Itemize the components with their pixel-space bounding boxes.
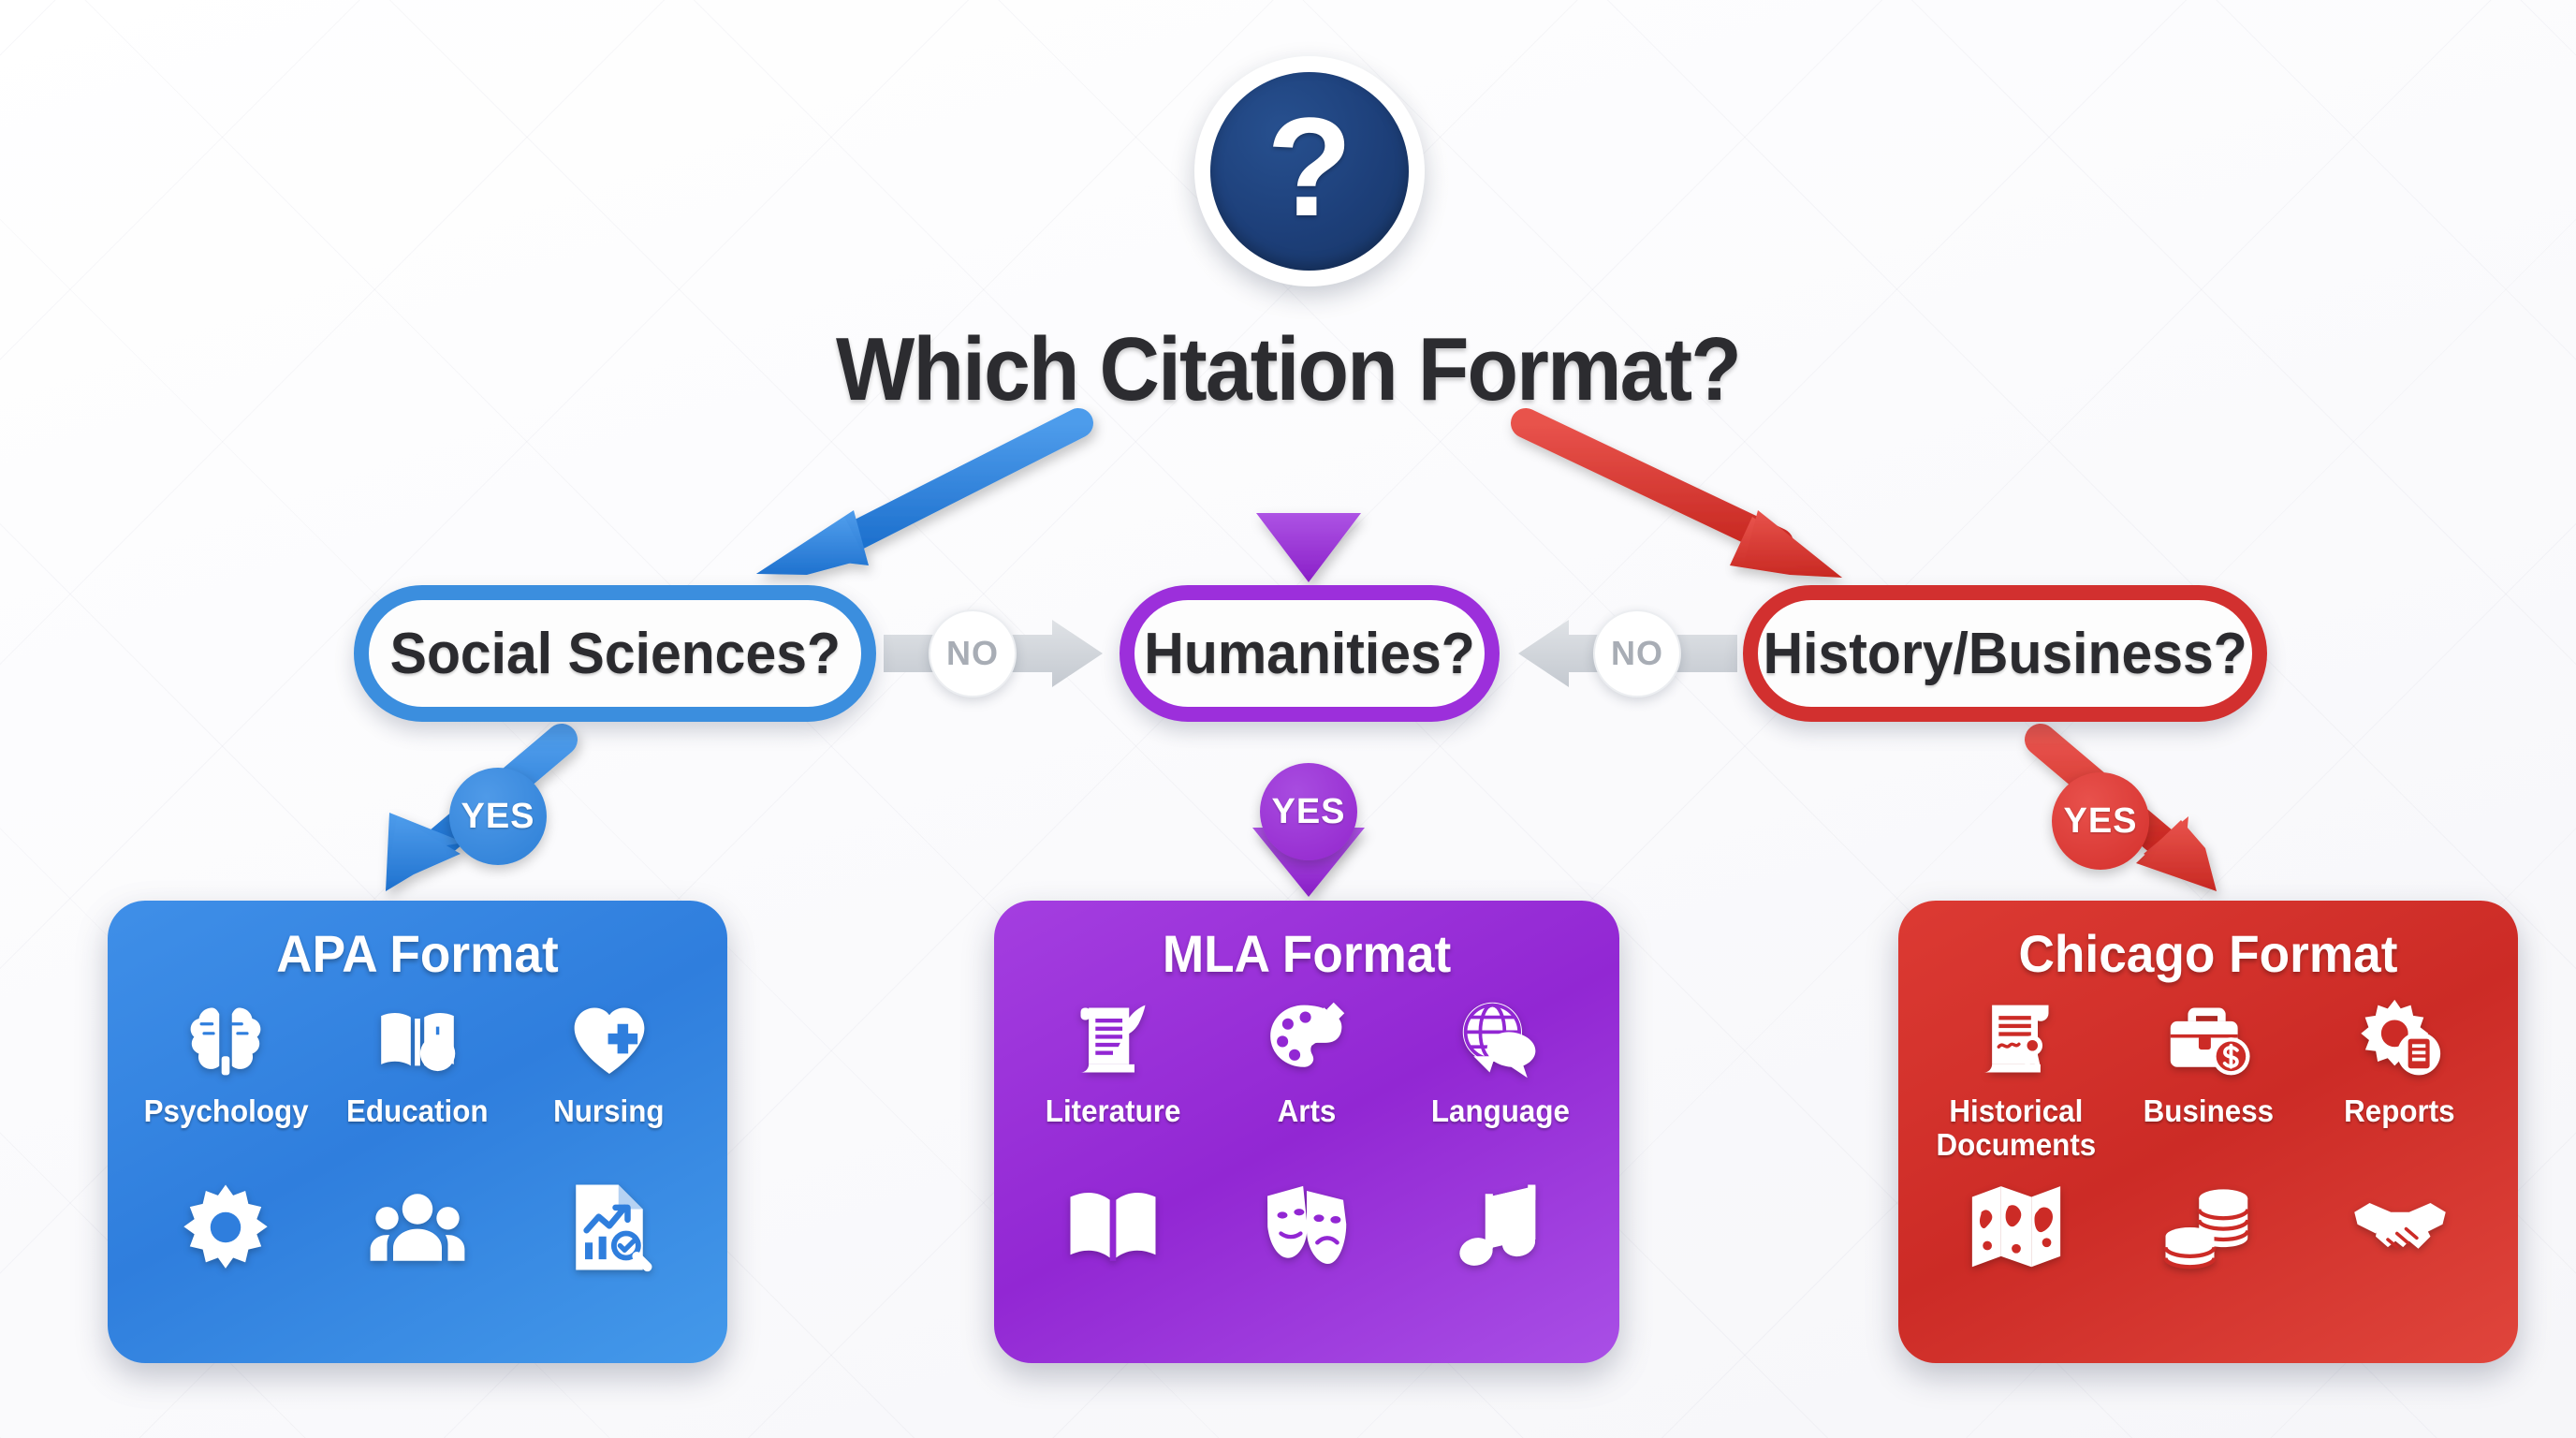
page-title: Which Citation Format? xyxy=(90,318,2485,421)
mla-item-literature: Literature xyxy=(1019,997,1207,1128)
card-title-mla: MLA Format xyxy=(1010,923,1604,984)
connector-badge-yes-apa: YES xyxy=(449,768,547,865)
coin-stacks-icon xyxy=(2159,1179,2257,1276)
apa-icon-row-secondary xyxy=(108,1179,727,1328)
arrow-root-to-social xyxy=(756,419,1081,588)
decision-node-social-sciences[interactable]: Social Sciences? xyxy=(354,585,876,722)
chicago-item-business: Business xyxy=(2115,997,2302,1128)
briefcase-dollar-icon xyxy=(2165,997,2251,1083)
apa-item-chart-document xyxy=(516,1179,703,1276)
card-title-chicago: Chicago Format xyxy=(1914,923,2503,984)
music-note-icon xyxy=(1452,1179,1549,1276)
mla-item-music-note xyxy=(1407,1179,1594,1276)
apa-item-people-group xyxy=(324,1179,511,1276)
mla-item-language: Language xyxy=(1407,997,1594,1128)
apa-item-gear xyxy=(132,1179,319,1276)
decision-label-history-business: History/Business? xyxy=(1763,621,2247,687)
apa-caption-nursing: Nursing xyxy=(553,1094,664,1128)
arrow-root-to-humanities xyxy=(1256,426,1361,582)
mla-icon-row-secondary xyxy=(994,1179,1619,1328)
open-book-icon xyxy=(1064,1179,1162,1276)
apa-item-nursing: Nursing xyxy=(516,997,703,1128)
connector-badge-yes-chicago: YES xyxy=(2052,772,2149,870)
chicago-icon-row-secondary xyxy=(1898,1179,2518,1328)
apa-icon-row-primary: Psychology Education Nursing xyxy=(108,997,727,1175)
decision-node-history-business[interactable]: History/Business? xyxy=(1743,585,2267,722)
connector-badge-no-right: NO xyxy=(1593,609,1681,697)
mla-caption-arts: Arts xyxy=(1278,1094,1337,1128)
mla-caption-language: Language xyxy=(1431,1094,1570,1128)
card-title-apa: APA Format xyxy=(124,923,712,984)
connector-label-no-left: NO xyxy=(946,634,999,673)
connector-label-yes-apa: YES xyxy=(461,797,534,837)
mla-item-theater-masks xyxy=(1213,1179,1400,1276)
apa-item-psychology: Psychology xyxy=(132,997,319,1128)
gear-report-icon xyxy=(2357,997,2443,1083)
gear-icon xyxy=(177,1179,274,1276)
certificate-scroll-icon xyxy=(1973,997,2059,1083)
apa-caption-education: Education xyxy=(346,1094,489,1128)
mla-caption-literature: Literature xyxy=(1046,1094,1181,1128)
apa-item-education: Education xyxy=(324,997,511,1128)
question-mark-icon: ? xyxy=(1194,56,1425,286)
chicago-item-historical-documents: Historical Documents xyxy=(1923,997,2110,1161)
people-group-icon xyxy=(369,1179,466,1276)
connector-badge-yes-mla: YES xyxy=(1260,763,1357,860)
mla-item-open-book xyxy=(1019,1179,1207,1276)
decision-node-humanities[interactable]: Humanities? xyxy=(1120,585,1500,722)
connector-badge-no-left: NO xyxy=(929,609,1017,697)
decision-label-social-sciences: Social Sciences? xyxy=(389,621,840,687)
question-mark-circle: ? xyxy=(1210,72,1409,271)
theater-masks-icon xyxy=(1258,1179,1355,1276)
arrow-root-to-history xyxy=(1526,423,1842,578)
book-apple-icon xyxy=(374,997,461,1083)
chicago-caption-business: Business xyxy=(2143,1094,2273,1128)
folded-map-icon xyxy=(1968,1179,2065,1276)
connector-label-yes-mla: YES xyxy=(1271,792,1345,832)
flowchart-canvas: ? Which Citation Format? Social Sciences… xyxy=(0,0,2576,1438)
chicago-item-reports: Reports xyxy=(2306,997,2494,1128)
question-mark-glyph: ? xyxy=(1266,96,1353,237)
chicago-caption-historical-documents: Historical Documents xyxy=(1937,1094,2097,1161)
chart-document-search-icon xyxy=(561,1179,658,1276)
connector-label-yes-chicago: YES xyxy=(2063,801,2137,842)
connector-label-no-right: NO xyxy=(1611,634,1663,673)
outcome-card-mla[interactable]: MLA Format Literatu xyxy=(994,901,1619,1363)
scroll-quill-icon xyxy=(1070,997,1156,1083)
heart-cross-icon xyxy=(566,997,652,1083)
mla-item-arts: Arts xyxy=(1213,997,1400,1128)
chicago-item-handshake xyxy=(2306,1179,2494,1276)
outcome-card-chicago[interactable]: Chicago Format Histor xyxy=(1898,901,2518,1363)
handshake-icon xyxy=(2351,1179,2449,1276)
palette-brush-icon xyxy=(1264,997,1350,1083)
chicago-icon-row-primary: Historical Documents Business xyxy=(1898,997,2518,1175)
mla-icon-row-primary: Literature Arts xyxy=(994,997,1619,1175)
chicago-caption-reports: Reports xyxy=(2344,1094,2454,1128)
outcome-card-apa[interactable]: APA Format Psychology xyxy=(108,901,727,1363)
brain-icon xyxy=(183,997,269,1083)
apa-caption-psychology: Psychology xyxy=(143,1094,308,1128)
decision-label-humanities: Humanities? xyxy=(1144,621,1474,687)
globe-speech-icon xyxy=(1457,997,1544,1083)
chicago-item-map xyxy=(1923,1179,2110,1276)
chicago-item-coins xyxy=(2115,1179,2302,1276)
